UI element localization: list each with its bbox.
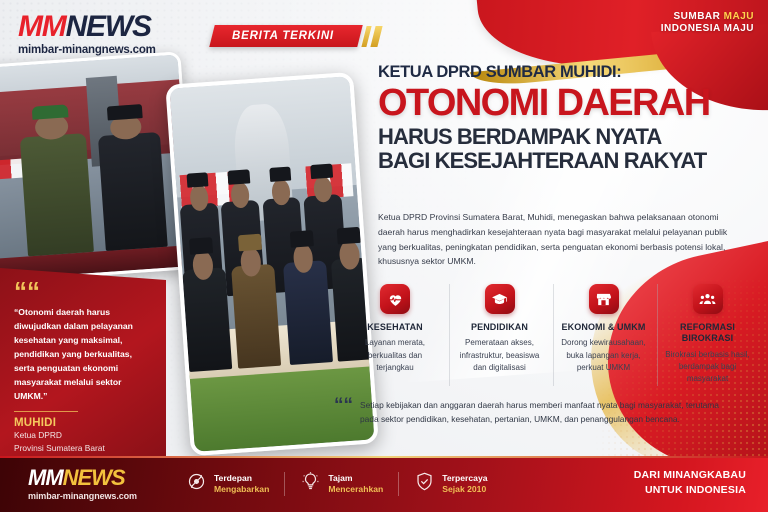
shield-check-icon [414, 471, 435, 497]
badge-gold-stripe-1 [361, 26, 371, 47]
slogan-maju: MAJU [724, 11, 754, 22]
header-logo-mm: MM [18, 10, 66, 43]
feature-card-title: PENDIDIKAN [454, 322, 545, 333]
photo-officials [0, 51, 195, 282]
headline-sub-line-2: BAGI KESEJAHTERAAN RAKYAT [378, 149, 760, 173]
pull-quote-block: ““ Setiap kebijakan dan anggaran daerah … [334, 398, 734, 426]
side-quote-divider [14, 411, 78, 413]
footer-item-line2: Sejak 2010 [442, 484, 487, 495]
slogan-line-1: SUMBAR MAJU [661, 11, 754, 23]
photo-b-songkok-b2 [228, 169, 251, 185]
photo-b-front-2-officer [231, 264, 281, 369]
header-wordmark: MMNEWS [18, 12, 156, 42]
photo-a-beret [31, 105, 69, 120]
side-quote-text: “Otonomi daerah harus diwujudkan dalam p… [14, 306, 152, 403]
footer-item-line1: Tajam [328, 473, 383, 484]
lightbulb-icon [300, 471, 321, 497]
header-logo-news: NEWS [66, 10, 151, 43]
slogan-line-2: INDONESIA MAJU [661, 23, 754, 35]
breaking-news-badge[interactable]: BERITA TERKINI [212, 25, 380, 47]
side-quote-author: MUHIDI [14, 417, 152, 429]
footer-item-line2: Mencerahkan [328, 484, 383, 495]
footer-tagline-line-2: UNTUK INDONESIA [634, 483, 746, 498]
store-icon [589, 284, 619, 314]
footer-logo[interactable]: MMNEWS mimbar-minangnews.com [28, 467, 137, 501]
footer-accent-line [0, 456, 768, 458]
feature-card-desc: Birokrasi berbasis hasil, berdampak bagi… [662, 349, 753, 386]
photo-a-figure-officer [20, 133, 94, 256]
headline-sub-line-1: HARUS BERDAMPAK NYATA [378, 125, 760, 149]
footer-logo-mm: MM [28, 465, 63, 490]
feature-card-list: KESEHATAN Layanan merata, berkualitas da… [345, 284, 757, 386]
side-quote-role-1: Ketua DPRD [14, 430, 152, 442]
side-quote-mark: ““ [14, 282, 152, 300]
compass-icon [186, 471, 207, 497]
feature-card-ekonomi-umkm[interactable]: EKONOMI & UMKM Dorong kewirausahaan, buk… [553, 284, 653, 386]
infographic-poster: SUMBAR MAJU INDONESIA MAJU MMNEWS mimbar… [0, 0, 768, 512]
slogan-sumbar: SUMBAR [673, 11, 723, 22]
feature-card-title: EKONOMI & UMKM [558, 322, 649, 333]
side-quote-panel: ““ “Otonomi daerah harus diwujudkan dala… [0, 268, 166, 458]
footer-tagline-line-1: DARI MINANGKABAU [634, 468, 746, 483]
footer-item-text: Terdepan Mengabarkan [214, 473, 269, 496]
footer-item-line1: Terdepan [214, 473, 269, 484]
footer-logo-news: NEWS [63, 465, 125, 490]
badge-pill: BERITA TERKINI [209, 25, 362, 47]
footer-wordmark: MMNEWS [28, 467, 137, 489]
feature-card-title: REFORMASI BIROKRASI [662, 322, 753, 345]
headline-block: KETUA DPRD SUMBAR MUHIDI: OTONOMI DAERAH… [378, 64, 760, 173]
graduation-cap-icon [485, 284, 515, 314]
footer-bar: MMNEWS mimbar-minangnews.com Terdepan Me… [0, 456, 768, 512]
photo-b-front-3 [283, 260, 333, 365]
headline-main: OTONOMI DAERAH [378, 84, 760, 123]
feature-card-desc: Pemerataan akses, infrastruktur, beasisw… [454, 337, 545, 374]
footer-item-terdepan: Terdepan Mengabarkan [171, 471, 284, 497]
photo-b-cap-f2 [238, 234, 262, 252]
photo-b-songkok-f1 [189, 237, 213, 255]
pull-quote-text: Setiap kebijakan dan anggaran daerah har… [360, 398, 734, 426]
header-logo[interactable]: MMNEWS mimbar-minangnews.com [18, 12, 156, 56]
header-site-url: mimbar-minangnews.com [18, 44, 156, 56]
photo-a-songkok [107, 104, 143, 121]
photo-b-songkok-b4 [310, 163, 333, 179]
footer-item-terpercaya: Terpercaya Sejak 2010 [399, 471, 502, 497]
feature-card-desc: Layanan merata, berkualitas dan terjangk… [349, 337, 441, 374]
footer-item-text: Tajam Mencerahkan [328, 473, 383, 496]
people-group-icon [693, 284, 723, 314]
footer-item-text: Terpercaya Sejak 2010 [442, 473, 487, 496]
heart-pulse-icon [380, 284, 410, 314]
photo-b-songkok-b3 [269, 166, 292, 182]
footer-tagline: DARI MINANGKABAU UNTUK INDONESIA [634, 468, 746, 497]
photo-a-figure-official [98, 132, 168, 251]
lede-paragraph: Ketua DPRD Provinsi Sumatera Barat, Muhi… [378, 210, 746, 269]
feature-card-kesehatan[interactable]: KESEHATAN Layanan merata, berkualitas da… [345, 284, 445, 386]
photo-b-front-1 [182, 267, 232, 372]
footer-item-line2: Mengabarkan [214, 484, 269, 495]
photo-b-songkok-f4 [336, 227, 360, 245]
footer-item-line1: Terpercaya [442, 473, 487, 484]
footer-site-url: mimbar-minangnews.com [28, 491, 137, 501]
feature-card-title: KESEHATAN [349, 322, 441, 333]
photo-b-songkok-b1 [186, 172, 209, 188]
badge-label: BERITA TERKINI [232, 30, 334, 42]
photo-b-songkok-f3 [290, 230, 314, 248]
feature-card-reformasi-birokrasi[interactable]: REFORMASI BIROKRASI Birokrasi berbasis h… [657, 284, 757, 386]
footer-item-tajam: Tajam Mencerahkan [285, 471, 398, 497]
feature-card-desc: Dorong kewirausahaan, buka lapangan kerj… [558, 337, 649, 374]
headline-kicker: KETUA DPRD SUMBAR MUHIDI: [378, 64, 760, 81]
footer-value-list: Terdepan Mengabarkan Tajam Mencerahkan [171, 471, 503, 497]
pull-quote-mark: ““ [334, 398, 353, 426]
top-slogan: SUMBAR MAJU INDONESIA MAJU [661, 11, 754, 35]
feature-card-pendidikan[interactable]: PENDIDIKAN Pemerataan akses, infrastrukt… [449, 284, 549, 386]
side-quote-role-2: Provinsi Sumatera Barat [14, 443, 152, 455]
